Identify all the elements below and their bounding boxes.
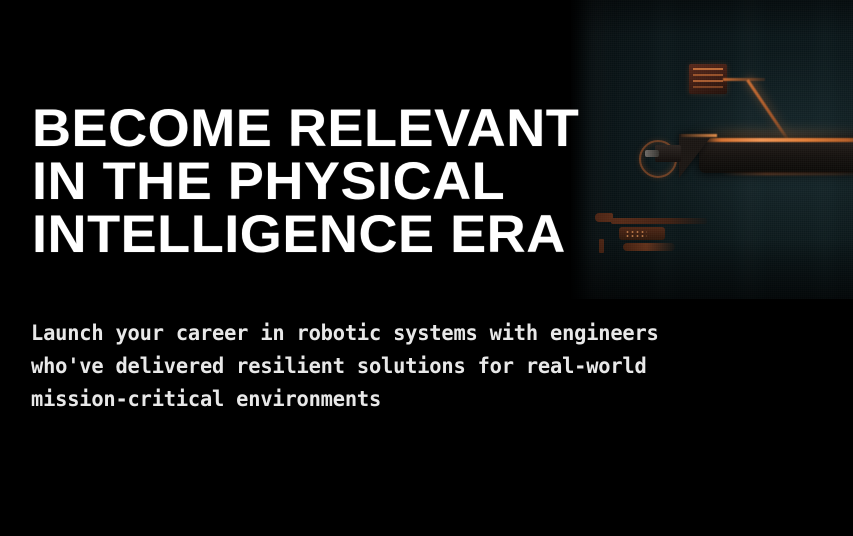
- hero-subheadline: Launch your career in robotic systems wi…: [31, 317, 807, 416]
- hero-section: BECOME RELEVANT IN THE PHYSICAL INTELLIG…: [0, 0, 853, 536]
- hero-headline: BECOME RELEVANT IN THE PHYSICAL INTELLIG…: [32, 102, 848, 261]
